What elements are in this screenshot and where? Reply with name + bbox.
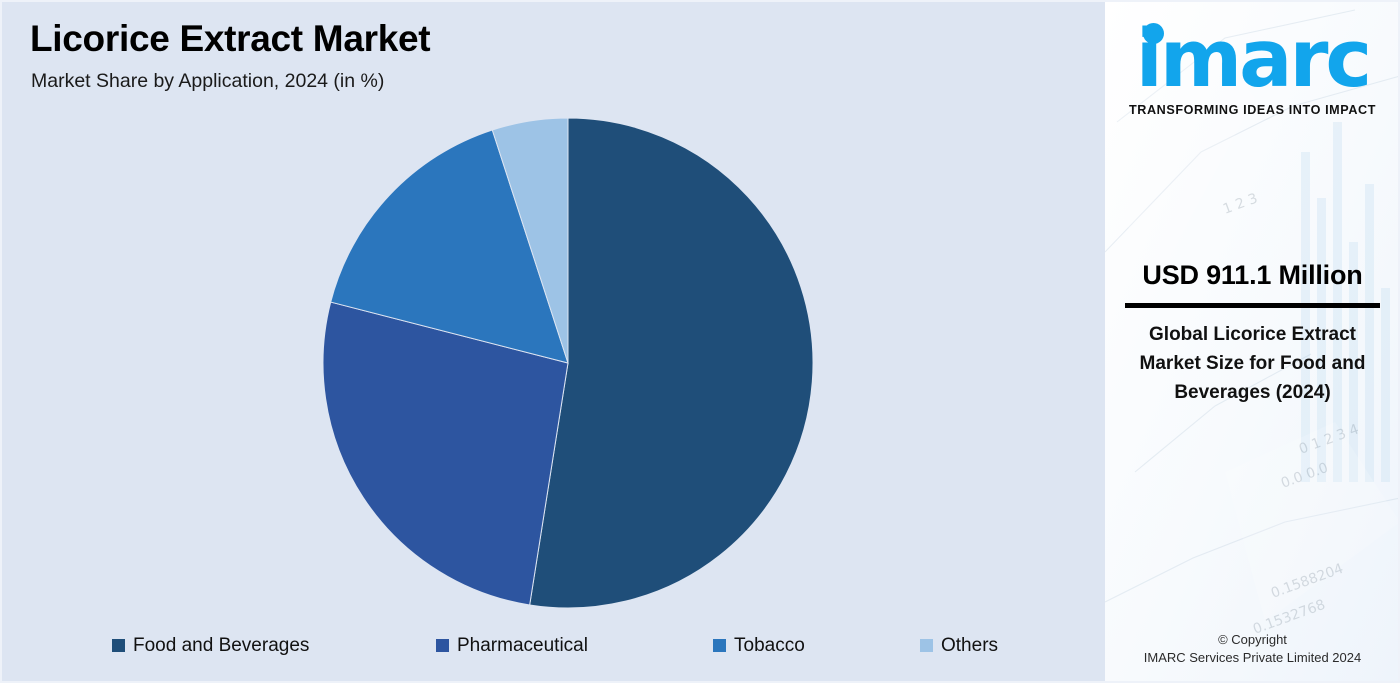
legend-item-label: Others — [941, 636, 998, 655]
legend-item-food-and-beverages[interactable]: Food and Beverages — [112, 636, 309, 655]
brand-sidebar: 0 1 2 3 4 0.0 0.0 0.1588204 0.1532768 1 … — [1105, 2, 1400, 681]
legend-item-label: Food and Beverages — [133, 636, 309, 655]
legend-item-tobacco[interactable]: Tobacco — [713, 636, 805, 655]
market-value-block: USD 911.1 Million Global Licorice Extrac… — [1105, 260, 1400, 407]
imarc-wordmark: imarc — [1136, 13, 1370, 105]
legend-item-label: Tobacco — [734, 636, 805, 655]
legend-item-label: Pharmaceutical — [457, 636, 588, 655]
pie-chart — [2, 2, 1105, 622]
legend-item-others[interactable]: Others — [920, 636, 998, 655]
imarc-logo: imarc TRANSFORMING IDEAS INTO IMPACT — [1105, 16, 1400, 117]
sidebar-content: imarc TRANSFORMING IDEAS INTO IMPACT USD… — [1105, 2, 1400, 681]
market-value-caption: Global Licorice Extract Market Size for … — [1105, 320, 1400, 407]
infographic-page: Licorice Extract Market Market Share by … — [0, 0, 1400, 683]
copyright-line-1: © Copyright — [1105, 631, 1400, 649]
logo-dot-icon — [1143, 23, 1164, 44]
chart-legend: Food and Beverages Pharmaceutical Tobacc… — [2, 622, 1105, 670]
pie-slice[interactable] — [530, 118, 813, 608]
imarc-tagline: TRANSFORMING IDEAS INTO IMPACT — [1105, 103, 1400, 117]
legend-swatch-icon — [436, 639, 449, 652]
copyright-block: © Copyright IMARC Services Private Limit… — [1105, 631, 1400, 667]
legend-swatch-icon — [112, 639, 125, 652]
legend-item-pharmaceutical[interactable]: Pharmaceutical — [436, 636, 588, 655]
legend-swatch-icon — [920, 639, 933, 652]
copyright-line-2: IMARC Services Private Limited 2024 — [1105, 649, 1400, 667]
pie-slice-group — [323, 118, 813, 608]
chart-panel: Licorice Extract Market Market Share by … — [2, 2, 1105, 681]
imarc-wordmark-group: imarc — [1136, 16, 1370, 102]
pie-chart-svg — [2, 2, 1105, 622]
market-value-headline: USD 911.1 Million — [1105, 260, 1400, 291]
divider — [1125, 303, 1380, 308]
legend-swatch-icon — [713, 639, 726, 652]
